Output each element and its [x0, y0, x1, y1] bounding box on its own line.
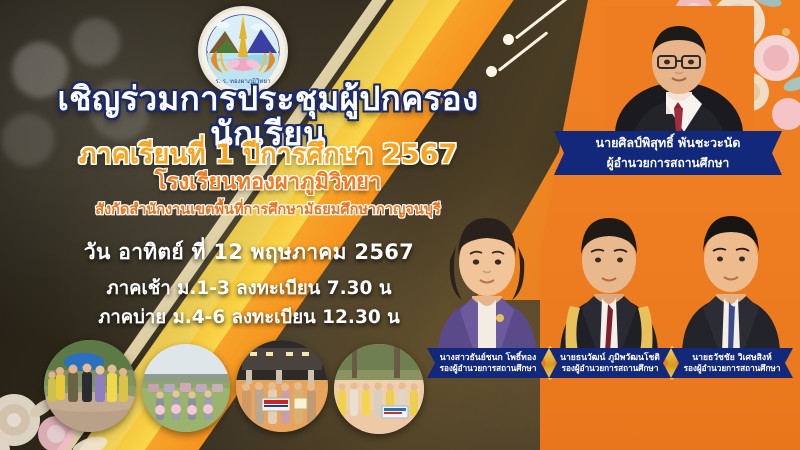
- deputy-name-3: นายธวัชชัย วิเศษสิงห์: [671, 353, 793, 364]
- activity-photo-3: [236, 340, 328, 432]
- activity-photo-2: [142, 344, 230, 432]
- deputy-role-2: รองผู้อำนวยการสถานศึกษา: [549, 363, 671, 373]
- deputy-role-3: รองผู้อำนวยการสถานศึกษา: [671, 363, 793, 373]
- school-name: โรงเรียนทองผาภูมิวิทยา: [14, 171, 522, 195]
- activity-photo-4: [334, 344, 424, 434]
- deputy-caption-3: นายธวัชชัย วิเศษสิงห์ รองผู้อำนวยการสถาน…: [671, 348, 793, 378]
- session-afternoon: ภาคบ่าย ม.4-6 ลงทะเบียน 12.30 น: [14, 303, 484, 332]
- director-caption: นายศิลป์พิสุทธิ์ พันชะวะนัด ผู้อำนวยการส…: [554, 131, 782, 175]
- event-date: วัน อาทิตย์ ที่ 12 พฤษภาคม 2567: [14, 236, 484, 269]
- deputy-caption-1: นางสาวธันย์ชนก โพธิ์ทอง รองผู้อำนวยการสถ…: [427, 348, 549, 378]
- deputy-portrait-2: [550, 196, 668, 316]
- director-portrait: [604, 6, 754, 146]
- session-morning: ภาคเช้า ม.1-3 ลงทะเบียน 7.30 น: [14, 274, 484, 303]
- deputy-name-1: นางสาวธันย์ชนก โพธิ์ทอง: [427, 353, 549, 364]
- director-role: ผู้อำนวยการสถานศึกษา: [554, 154, 782, 173]
- deputy-portrait-1: [428, 200, 546, 320]
- deputy-name-2: นายธนวัฒน์ ภูมิพวัฒนโชติ: [549, 353, 671, 364]
- director-name: นายศิลป์พิสุทธิ์ พันชะวะนัด: [554, 133, 782, 153]
- term-subtitle: ภาคเรียนที่ 1 ปีการศึกษา 2567: [14, 140, 522, 170]
- deputy-portrait-3: [672, 196, 790, 316]
- deputy-caption-2: นายธนวัฒน์ ภูมิพวัฒนโชติ รองผู้อำนวยการส…: [549, 348, 671, 378]
- activity-photo-1: [44, 340, 136, 432]
- deputy-role-1: รองผู้อำนวยการสถานศึกษา: [427, 363, 549, 373]
- poster-canvas: ร. ร. ทองผาภูมิวิทยา เชิญร่วมการประชุมผู…: [0, 0, 800, 450]
